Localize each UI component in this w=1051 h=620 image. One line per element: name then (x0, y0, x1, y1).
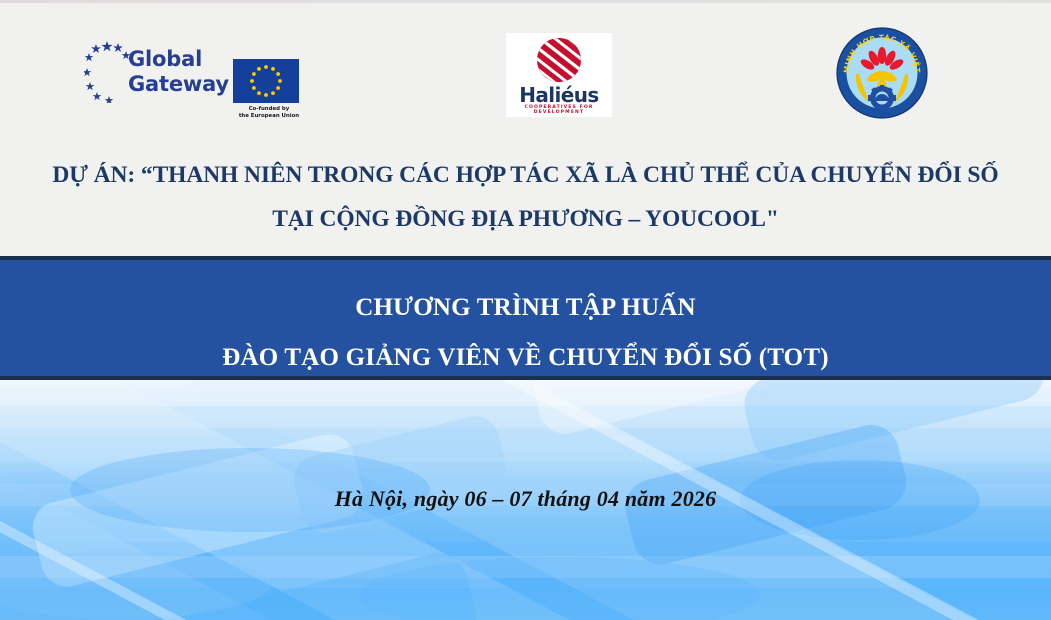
global-gateway-wordmark: Global Gateway (128, 47, 229, 97)
header-band: Global Gateway (0, 3, 1051, 256)
program-banner-line2: ĐÀO TẠO GIẢNG VIÊN VỀ CHUYỂN ĐỔI SỐ (TOT… (222, 344, 828, 371)
eu-caption-line2: the European Union (239, 113, 299, 119)
project-title-line2: TẠI CỘNG ĐỒNG ĐỊA PHƯƠNG – YOUCOOL" (0, 197, 1051, 241)
halieus-wordmark: Haliéus (506, 83, 612, 107)
global-gateway-line1: Global (128, 47, 202, 71)
global-gateway-logo: Global Gateway (84, 41, 214, 103)
project-title: DỰ ÁN: “THANH NIÊN TRONG CÁC HỢP TÁC XÃ … (0, 153, 1051, 241)
halieus-tagline: COOPERATIVES FOR DEVELOPMENT (506, 105, 612, 115)
program-banner-text: CHƯƠNG TRÌNH TẬP HUẤN ĐÀO TẠO GIẢNG VIÊN… (0, 260, 1051, 383)
halieus-globe-icon (537, 38, 581, 82)
program-banner-line1: CHƯƠNG TRÌNH TẬP HUẤN (355, 294, 696, 321)
eu-caption-line1: Co-funded by (249, 106, 290, 112)
program-banner: CHƯƠNG TRÌNH TẬP HUẤN ĐÀO TẠO GIẢNG VIÊN… (0, 256, 1051, 380)
project-title-line1: DỰ ÁN: “THANH NIÊN TRONG CÁC HỢP TÁC XÃ … (0, 153, 1051, 197)
vietnam-cooperative-alliance-seal: LIÊN MINH HỢP TÁC XÃ VIỆT NAM (836, 27, 928, 119)
eu-cofunded-logo: Co-funded by the European Union (233, 59, 305, 117)
eu-caption: Co-funded by the European Union (233, 106, 305, 120)
halieus-logo: Haliéus COOPERATIVES FOR DEVELOPMENT (506, 33, 612, 117)
global-gateway-line2: Gateway (128, 72, 229, 96)
eu-stars-icon (233, 59, 299, 103)
vca-seal-icon: LIÊN MINH HỢP TÁC XÃ VIỆT NAM (836, 27, 928, 119)
logo-row: Global Gateway (0, 3, 1051, 143)
presentation-slide: Global Gateway (0, 0, 1051, 620)
event-date-line: Hà Nội, ngày 06 – 07 tháng 04 năm 2026 (0, 486, 1051, 512)
eu-flag-icon (233, 59, 299, 103)
halieus-globe-svg (537, 38, 581, 82)
